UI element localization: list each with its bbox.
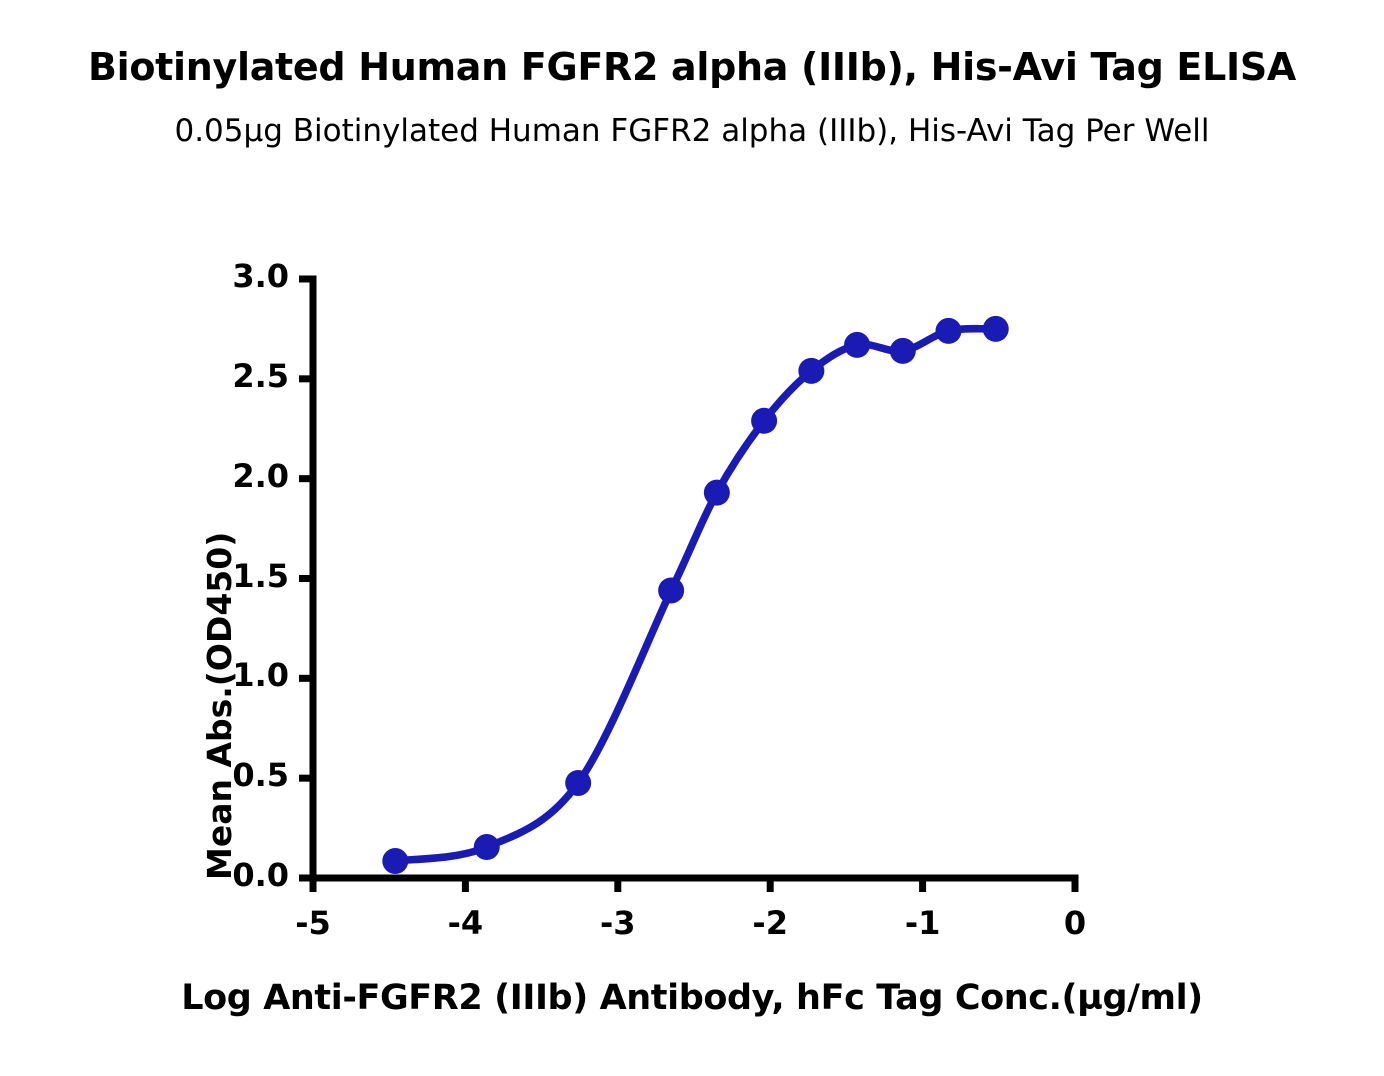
plot-area [0,0,1384,1076]
data-point-marker [936,318,962,344]
series-line [395,329,995,861]
data-point-marker [704,480,730,506]
axis-lines [310,276,1079,879]
data-point-marker [798,358,824,384]
tick-marks [299,279,1075,892]
data-point-marker [474,834,500,860]
chart-figure: Biotinylated Human FGFR2 alpha (IIIb), H… [0,0,1384,1076]
data-point-marker [565,770,591,796]
data-point-marker [983,316,1009,342]
data-point-marker [382,848,408,874]
data-point-marker [658,577,684,603]
series-markers [382,316,1008,874]
data-point-marker [844,332,870,358]
data-point-marker [751,408,777,434]
data-point-marker [890,338,916,364]
